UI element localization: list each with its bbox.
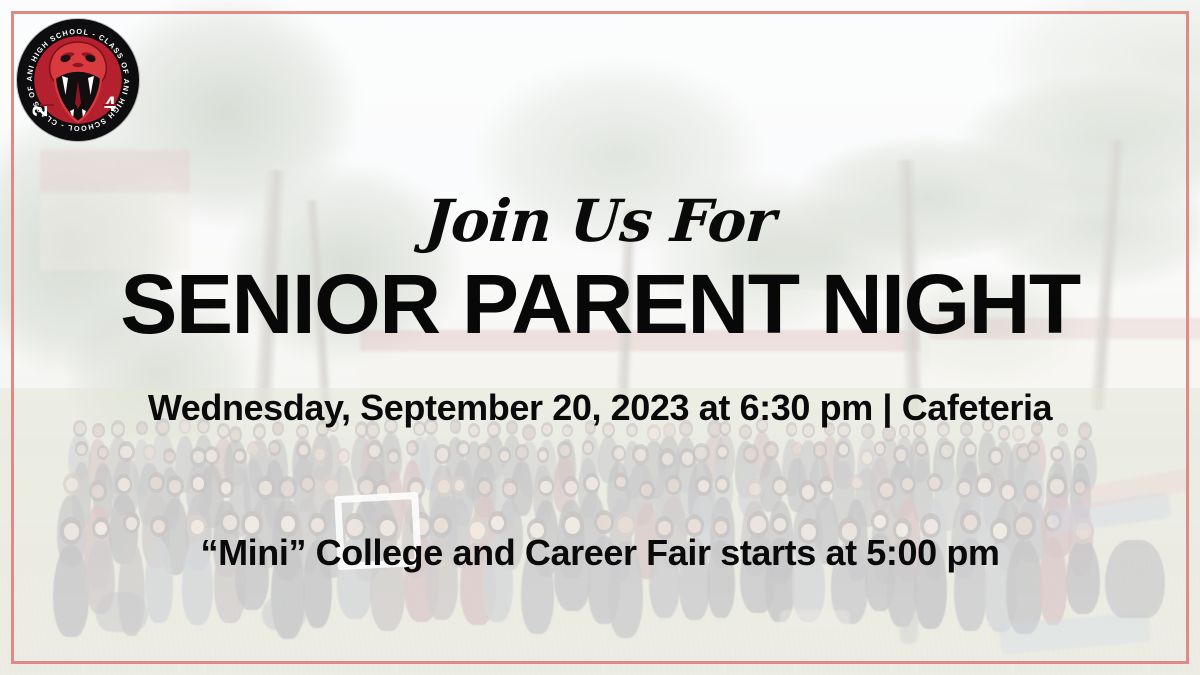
event-date-time-location: Wednesday, September 20, 2023 at 6:30 pm… (0, 388, 1200, 428)
college-career-fair-note: “Mini” College and Career Fair starts at… (0, 533, 1200, 573)
senior-parent-night-flyer: MILILANI HIGH SCHOOL - CLASS OF 2024 - M… (0, 0, 1200, 675)
flyer-text-content: Join Us For SENIOR PARENT NIGHT Wednesda… (0, 0, 1200, 675)
page-title: SENIOR PARENT NIGHT (0, 262, 1200, 346)
kicker-text: Join Us For (0, 192, 1200, 250)
